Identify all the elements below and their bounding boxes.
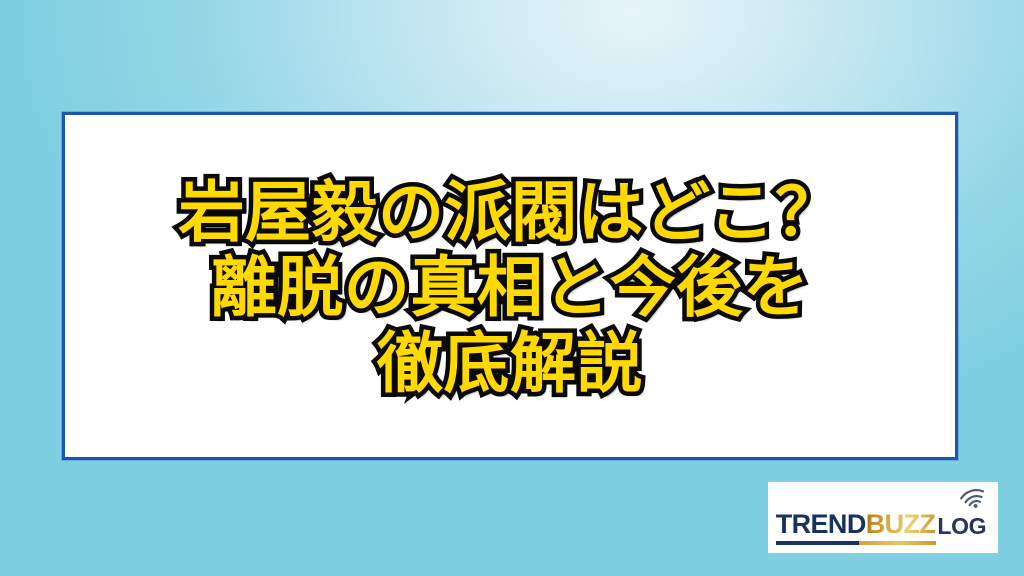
brand-logo: TREND BUZZ LOG (776, 498, 991, 538)
wifi-signal-icon (958, 482, 992, 510)
title-line-1: 岩屋毅の派閥はどこ？ (178, 175, 841, 250)
title-block: 岩屋毅の派閥はどこ？ 離脱の真相と今後を 徹底解説 (65, 115, 955, 457)
logo-text-log: LOG (937, 515, 986, 538)
brand-logo-badge[interactable]: TREND BUZZ LOG (768, 482, 998, 553)
title-line-2: 離脱の真相と今後を (211, 250, 810, 325)
logo-underline-bar (776, 541, 936, 545)
thumbnail-canvas: 岩屋毅の派閥はどこ？ 離脱の真相と今後を 徹底解説 TREND BUZZ LOG (0, 0, 1024, 576)
logo-text-buzz: BUZZ (866, 511, 936, 538)
title-card: 岩屋毅の派閥はどこ？ 離脱の真相と今後を 徹底解説 (62, 112, 958, 460)
title-line-3: 徹底解説 (377, 326, 643, 401)
logo-text-trend: TREND (776, 511, 866, 538)
